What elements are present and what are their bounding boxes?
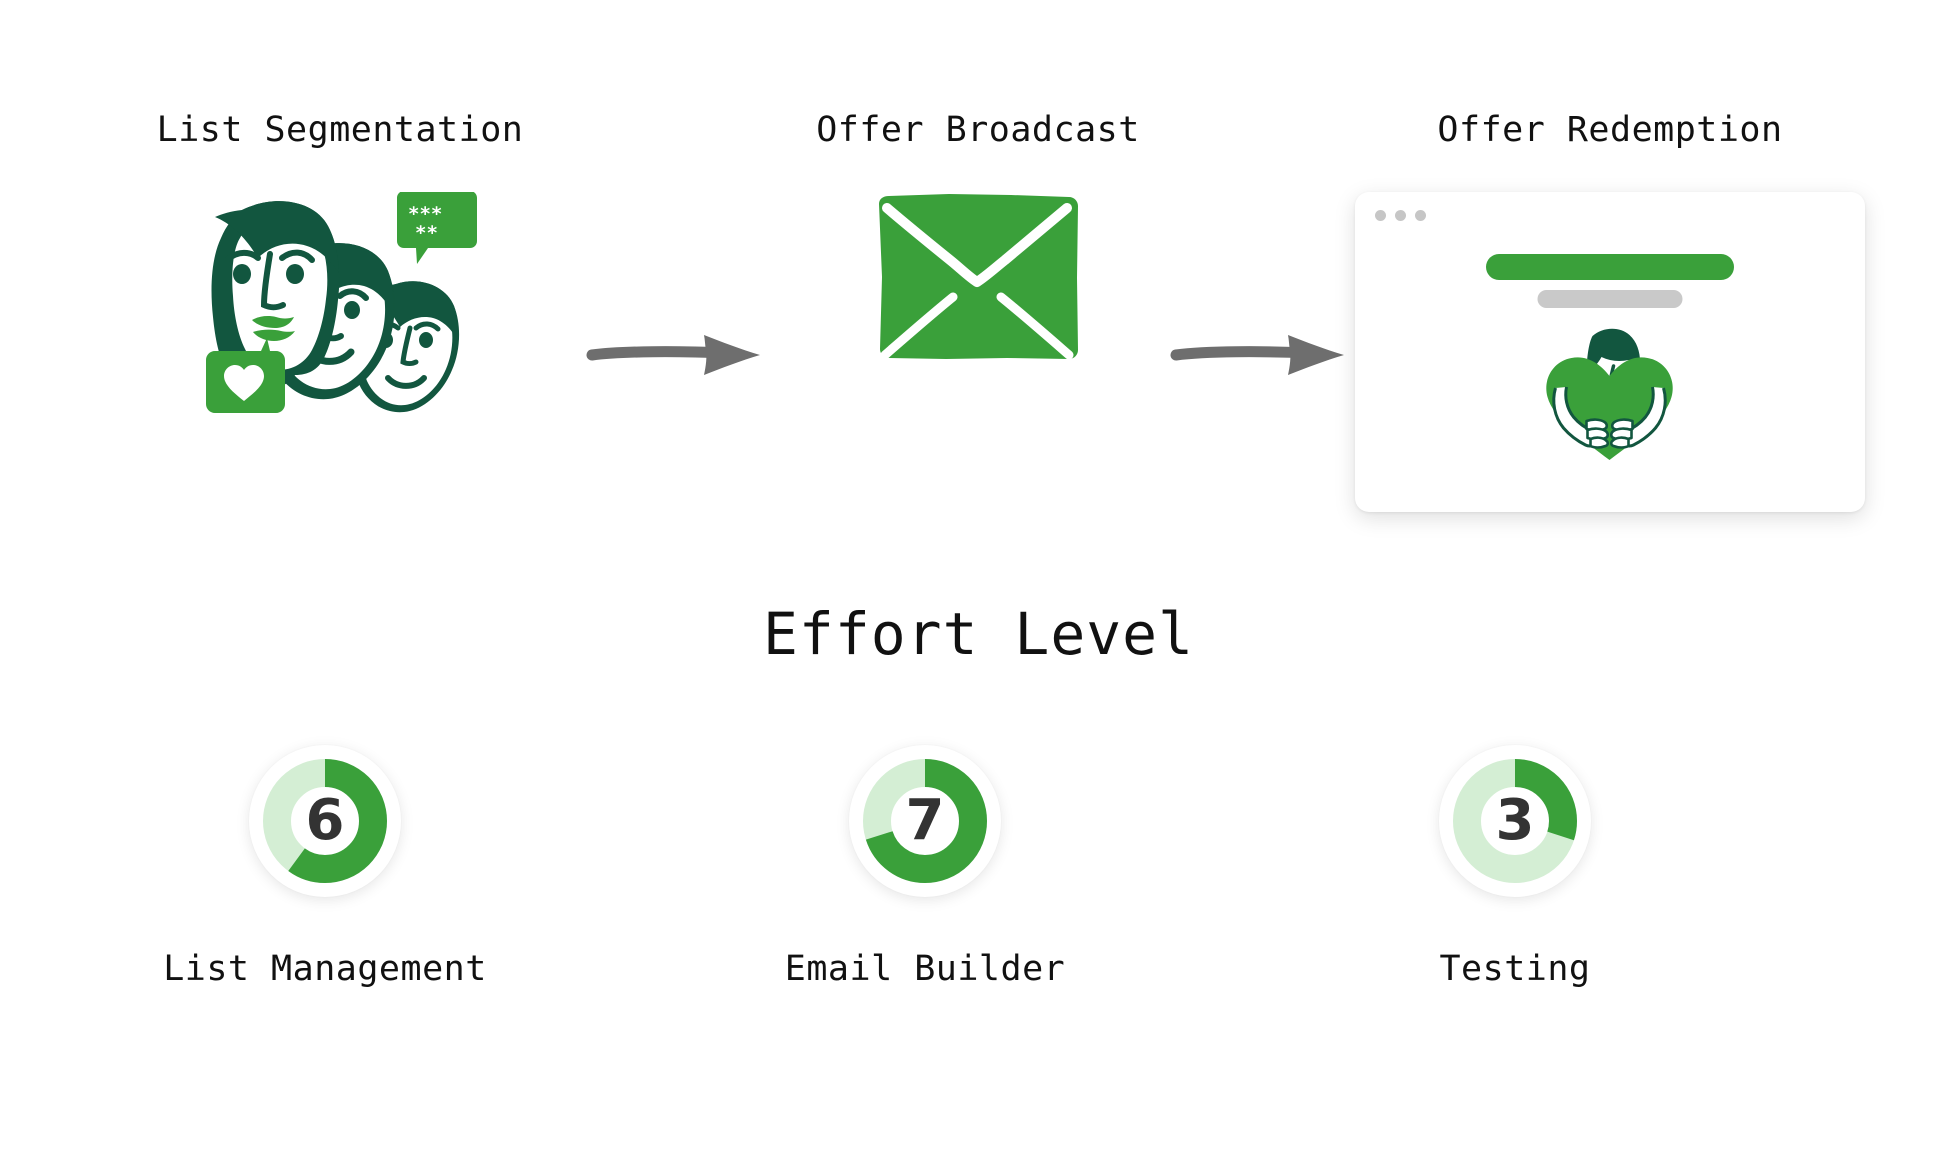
gauge-value: 7 bbox=[906, 793, 945, 849]
flow-step-offer-redemption: Offer Redemption bbox=[1300, 110, 1920, 512]
window-dot-2 bbox=[1395, 210, 1406, 221]
effort-gauges: 6 List Management 7 Email Builder 3 bbox=[0, 745, 1957, 1075]
effort-gauge-testing: 3 Testing bbox=[1305, 745, 1725, 989]
effort-level-title: Effort Level bbox=[0, 600, 1957, 668]
window-dot-1 bbox=[1375, 210, 1386, 221]
flow-step-3-label: Offer Redemption bbox=[1300, 110, 1920, 150]
diagram-canvas: List Segmentation bbox=[0, 0, 1957, 1170]
gauge-ring: 7 bbox=[849, 745, 1001, 897]
placeholder-bar-secondary bbox=[1538, 290, 1683, 308]
placeholder-bar-primary bbox=[1486, 254, 1734, 280]
browser-card bbox=[1355, 192, 1865, 512]
gauge-value: 3 bbox=[1496, 793, 1535, 849]
flow-step-2-label: Offer Broadcast bbox=[668, 110, 1288, 150]
window-dot-3 bbox=[1415, 210, 1426, 221]
person-hugging-heart-icon bbox=[1538, 322, 1683, 471]
effort-gauge-email-builder: 7 Email Builder bbox=[715, 745, 1135, 989]
browser-card-heart-hug-icon bbox=[1300, 192, 1920, 512]
process-flow: List Segmentation bbox=[0, 0, 1957, 520]
gauge-ring: 3 bbox=[1439, 745, 1591, 897]
gauge-label: Email Builder bbox=[715, 949, 1135, 989]
three-people-faces-icon: *** ** bbox=[30, 192, 650, 422]
effort-gauge-list-management: 6 List Management bbox=[115, 745, 535, 989]
flow-step-list-segmentation: List Segmentation bbox=[30, 110, 650, 422]
gauge-label: List Management bbox=[115, 949, 535, 989]
svg-text:**: ** bbox=[415, 222, 438, 244]
gauge-label: Testing bbox=[1305, 949, 1725, 989]
window-dots bbox=[1375, 210, 1426, 221]
flow-step-1-label: List Segmentation bbox=[30, 110, 650, 150]
gauge-value: 6 bbox=[306, 793, 345, 849]
gauge-ring: 6 bbox=[249, 745, 401, 897]
